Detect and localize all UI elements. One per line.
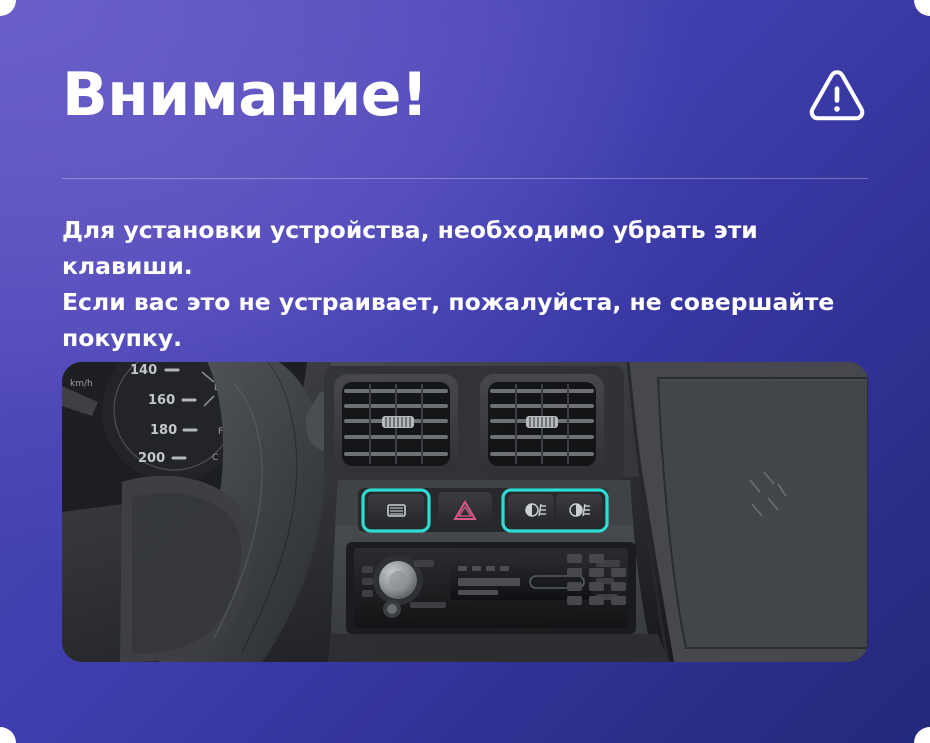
warning-triangle-icon bbox=[806, 64, 868, 126]
corner-notch-top-left bbox=[0, 0, 16, 16]
page-title: Внимание! bbox=[62, 65, 428, 125]
banner-body-text: Для установки устройства, необходимо убр… bbox=[62, 212, 862, 356]
dashboard-illustration: 140 160 180 200 km/h E F C bbox=[62, 362, 868, 662]
banner-header: Внимание! bbox=[62, 52, 868, 138]
body-line-2: Если вас это не устраивает, пожалуйста, … bbox=[62, 284, 862, 320]
body-line-1: Для установки устройства, необходимо убр… bbox=[62, 212, 862, 284]
corner-notch-bottom-left bbox=[0, 727, 16, 743]
warning-banner: Внимание! Для установки устройства, необ… bbox=[0, 0, 930, 743]
dashboard-photo: 140 160 180 200 km/h E F C bbox=[62, 362, 868, 662]
corner-notch-bottom-right bbox=[914, 727, 930, 743]
header-divider bbox=[62, 178, 868, 179]
body-line-3: покупку. bbox=[62, 320, 862, 356]
corner-notch-top-right bbox=[914, 0, 930, 16]
